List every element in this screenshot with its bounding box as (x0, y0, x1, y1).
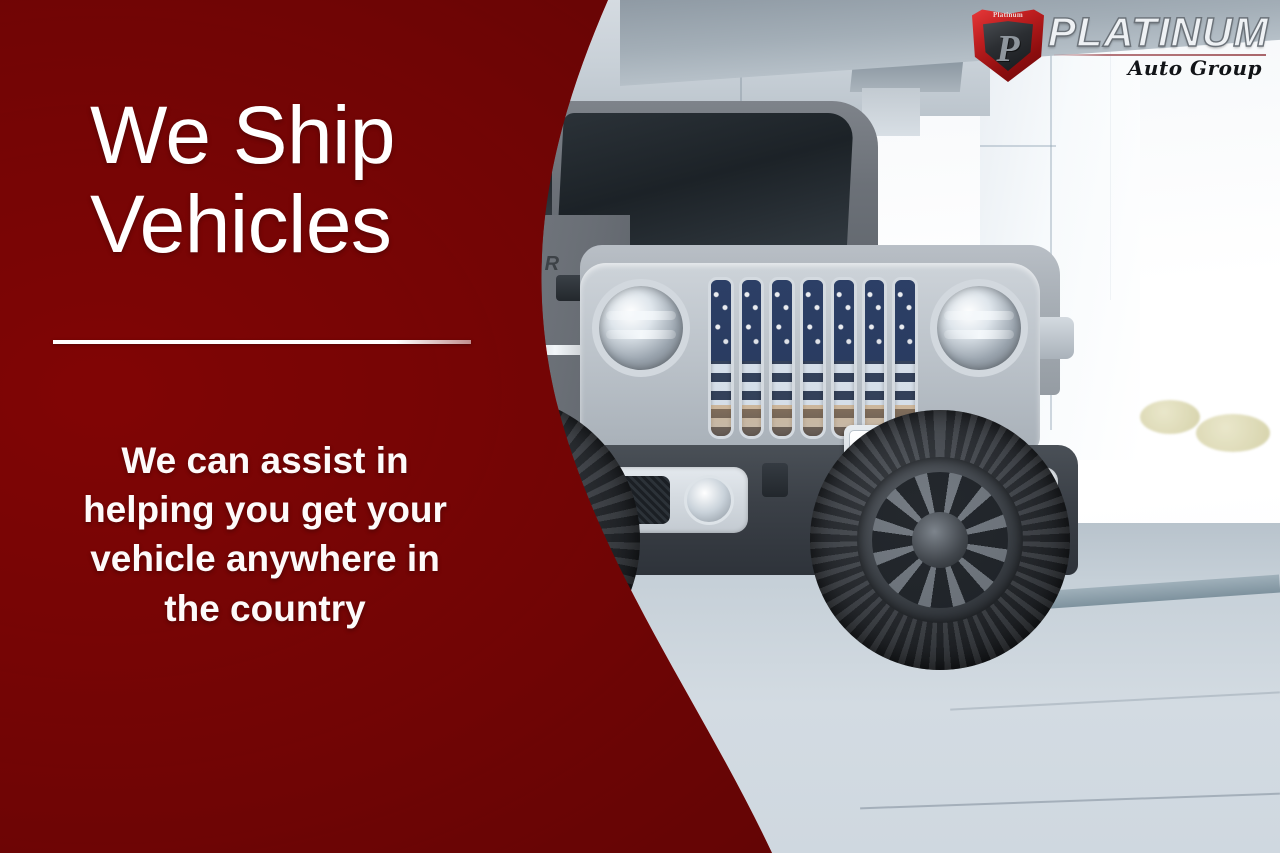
grille-slot (708, 277, 734, 439)
grille-slot-group (708, 277, 918, 439)
page-title: We Ship Vehicles (90, 92, 530, 269)
shrub (1140, 400, 1200, 434)
headline-line-2: Vehicles (90, 181, 530, 270)
subcopy-line-4: the country (40, 584, 490, 633)
marketing-banner: GLADIATOR (0, 0, 1280, 853)
subcopy-line-3: vehicle anywhere in (40, 534, 490, 583)
headlight-left (592, 279, 690, 377)
platinum-auto-group-logo: Platinum P PLATINUM Auto Group (972, 6, 1266, 84)
subcopy-line-2: helping you get your (40, 485, 490, 534)
copy-block: We Ship Vehicles We can assist in helpin… (0, 0, 560, 853)
headlight-right (930, 279, 1028, 377)
brand-wordmark: PLATINUM (1048, 10, 1268, 54)
grille-slot (739, 277, 765, 439)
grille-slot (831, 277, 857, 439)
wheel-hub (912, 512, 969, 569)
subcopy-line-1: We can assist in (40, 436, 490, 485)
front-wheel-tire (810, 410, 1070, 670)
shield-ribbon-text: Platinum (972, 11, 1044, 19)
fog-lamp-left (684, 475, 734, 525)
subcopy: We can assist in helping you get your ve… (40, 436, 490, 633)
grille-slot (769, 277, 795, 439)
front-wheel-rim (857, 457, 1023, 623)
grille-slot (862, 277, 888, 439)
brand-tagline: Auto Group (1128, 56, 1262, 80)
grille-slot (800, 277, 826, 439)
shield-icon: Platinum P (972, 8, 1044, 82)
divider-rule (53, 340, 471, 344)
headline-line-1: We Ship (90, 92, 530, 181)
tow-hook (762, 463, 788, 497)
shrub (1196, 414, 1270, 452)
